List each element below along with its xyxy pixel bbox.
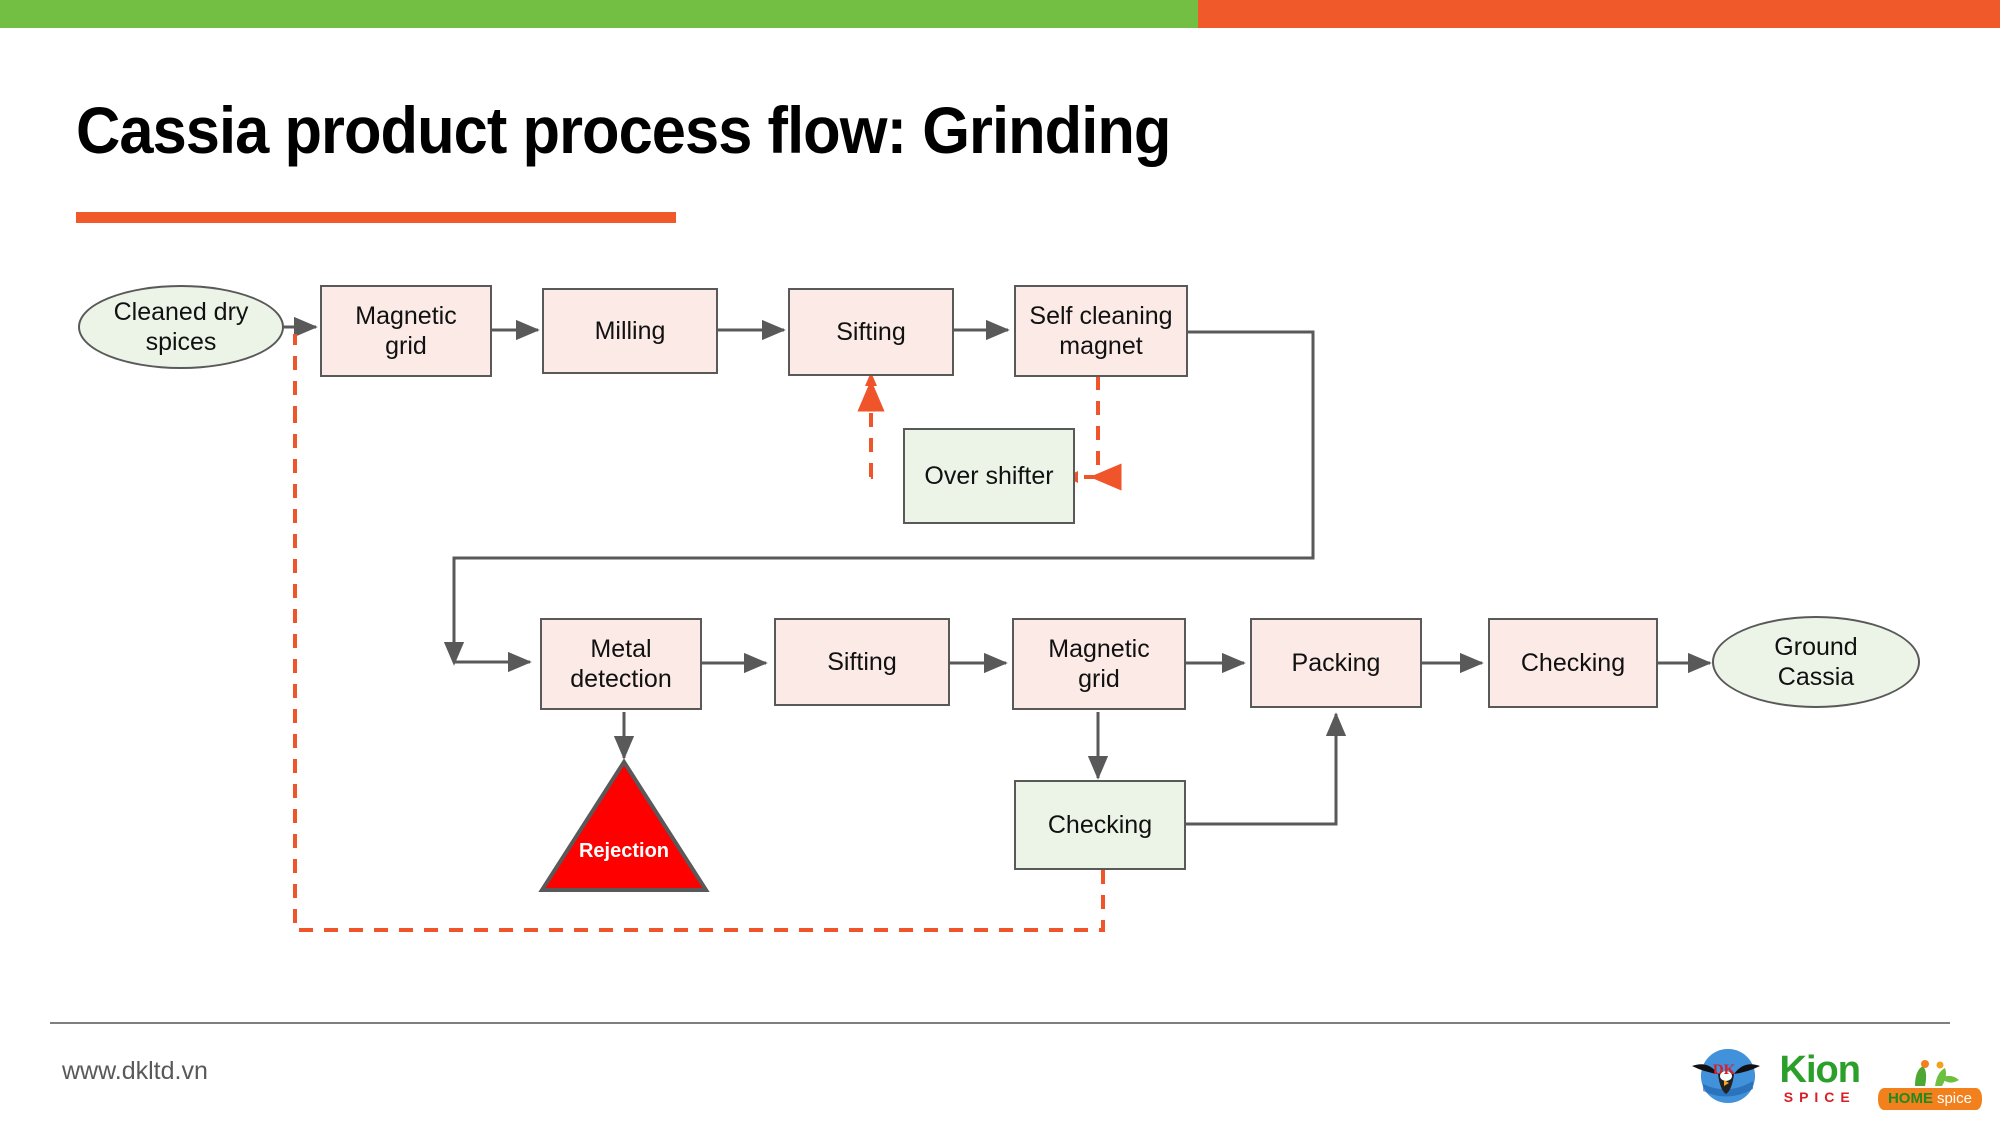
node-rejection[interactable]: Rejection: [538, 758, 710, 894]
node-label-magnetic-grid-2: Magnetic grid: [1048, 634, 1149, 695]
home-spice-logo: HOME spice: [1878, 1046, 1982, 1110]
node-magnetic-grid-1[interactable]: Magnetic grid: [320, 285, 492, 377]
node-checking-1[interactable]: Checking: [1488, 618, 1658, 708]
node-self-cleaning-magnet[interactable]: Self cleaning magnet: [1014, 285, 1188, 377]
node-label-sifting-1: Sifting: [836, 317, 905, 348]
footer-divider: [50, 1022, 1950, 1024]
node-label-checking-2: Checking: [1048, 810, 1152, 841]
rejection-triangle-shape: [538, 758, 710, 894]
node-sifting-1[interactable]: Sifting: [788, 288, 954, 376]
label-line-2: grid: [355, 331, 456, 362]
logo-strip: DK Kion SPICE HOME spice: [1690, 1042, 1982, 1114]
kion-wordmark: Kion: [1780, 1052, 1860, 1088]
node-milling[interactable]: Milling: [542, 288, 718, 374]
kion-logo: Kion SPICE: [1780, 1045, 1860, 1111]
label-line-2: detection: [570, 664, 671, 695]
svg-text:DK: DK: [1712, 1062, 1735, 1078]
label-line-2: grid: [1048, 664, 1149, 695]
dk-logo: DK: [1690, 1044, 1762, 1112]
label-line-1: Metal: [570, 634, 671, 665]
node-ground-cassia[interactable]: Ground Cassia: [1712, 616, 1920, 708]
node-metal-detection[interactable]: Metal detection: [540, 618, 702, 710]
node-label-metal-detection: Metal detection: [570, 634, 671, 695]
home-spice-word: spice: [1937, 1090, 1972, 1107]
label-line-2: Cassia: [1774, 662, 1857, 693]
node-cleaned-dry-spices[interactable]: Cleaned dry spices: [78, 285, 284, 369]
label-line-1: Self cleaning: [1029, 301, 1172, 332]
label-line-1: Magnetic: [355, 301, 456, 332]
node-sifting-2[interactable]: Sifting: [774, 618, 950, 706]
node-label-magnetic-grid-1: Magnetic grid: [355, 301, 456, 362]
label-line-1: Ground: [1774, 632, 1857, 663]
node-checking-2[interactable]: Checking: [1014, 780, 1186, 870]
label-line-1: Magnetic: [1048, 634, 1149, 665]
label-line-2: spices: [114, 327, 249, 358]
process-flow-diagram: Cleaned dry spices Magnetic grid Milling…: [0, 0, 2000, 1125]
node-over-shifter[interactable]: Over shifter: [903, 428, 1075, 524]
node-label-packing: Packing: [1292, 648, 1381, 679]
node-label-over-shifter: Over shifter: [924, 461, 1053, 492]
node-label-ground-cassia: Ground Cassia: [1774, 632, 1857, 693]
label-line-1: Cleaned dry: [114, 297, 249, 328]
node-label-self-cleaning-magnet: Self cleaning magnet: [1029, 301, 1172, 362]
node-label-sifting-2: Sifting: [827, 647, 896, 678]
slide: Cassia product process flow: Grinding: [0, 0, 2000, 1125]
home-wordmark: HOME: [1888, 1090, 1933, 1107]
node-label-cleaned-dry-spices: Cleaned dry spices: [114, 297, 249, 358]
dk-globe-eagle-icon: DK: [1690, 1044, 1762, 1112]
node-label-rejection: Rejection: [538, 840, 710, 863]
connector-layer: [0, 0, 2000, 1125]
footer-url: www.dkltd.vn: [62, 1057, 208, 1086]
node-label-milling: Milling: [595, 316, 666, 347]
home-spice-plant-icon: [1895, 1058, 1965, 1088]
home-spice-banner: HOME spice: [1878, 1088, 1982, 1110]
node-label-checking-1: Checking: [1521, 648, 1625, 679]
node-magnetic-grid-2[interactable]: Magnetic grid: [1012, 618, 1186, 710]
node-packing[interactable]: Packing: [1250, 618, 1422, 708]
label-line-2: magnet: [1029, 331, 1172, 362]
kion-tagline: SPICE: [1784, 1090, 1856, 1104]
